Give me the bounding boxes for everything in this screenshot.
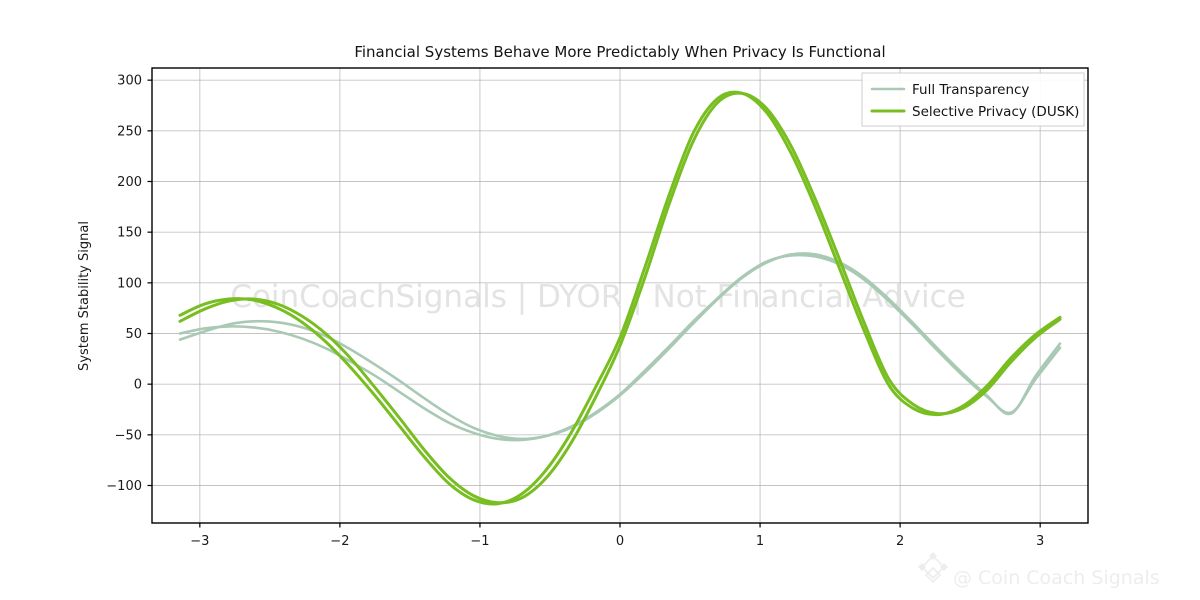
y-tick-label: 250	[117, 124, 142, 139]
x-tick-label: 3	[1036, 534, 1044, 549]
x-tick-label: 2	[896, 534, 904, 549]
legend-label-0: Full Transparency	[912, 82, 1029, 98]
x-tick-label: 1	[756, 534, 764, 549]
x-tick-label: −1	[470, 534, 489, 549]
chart-canvas: Financial Systems Behave More Predictabl…	[0, 0, 1200, 600]
chart-title: Financial Systems Behave More Predictabl…	[354, 43, 885, 61]
y-tick-label: −50	[115, 428, 142, 443]
legend-label-1: Selective Privacy (DUSK)	[912, 104, 1079, 120]
y-tick-label: 0	[134, 378, 142, 393]
y-tick-label: 50	[125, 327, 142, 342]
y-axis-title: System Stability Signal	[77, 221, 92, 371]
x-tick-label: −2	[330, 534, 349, 549]
y-tick-label: 150	[117, 226, 142, 241]
x-tick-label: 0	[616, 534, 624, 549]
x-tick-label: −3	[190, 534, 209, 549]
y-tick-label: 100	[117, 276, 142, 291]
y-tick-label: −100	[106, 479, 142, 494]
watermark-corner-label: @ Coin Coach Signals	[953, 567, 1160, 589]
y-tick-label: 300	[117, 74, 142, 89]
y-tick-label: 200	[117, 175, 142, 190]
chart-legend[interactable]: Full TransparencySelective Privacy (DUSK…	[862, 73, 1084, 126]
chart-figure: Financial Systems Behave More Predictabl…	[0, 0, 1200, 600]
